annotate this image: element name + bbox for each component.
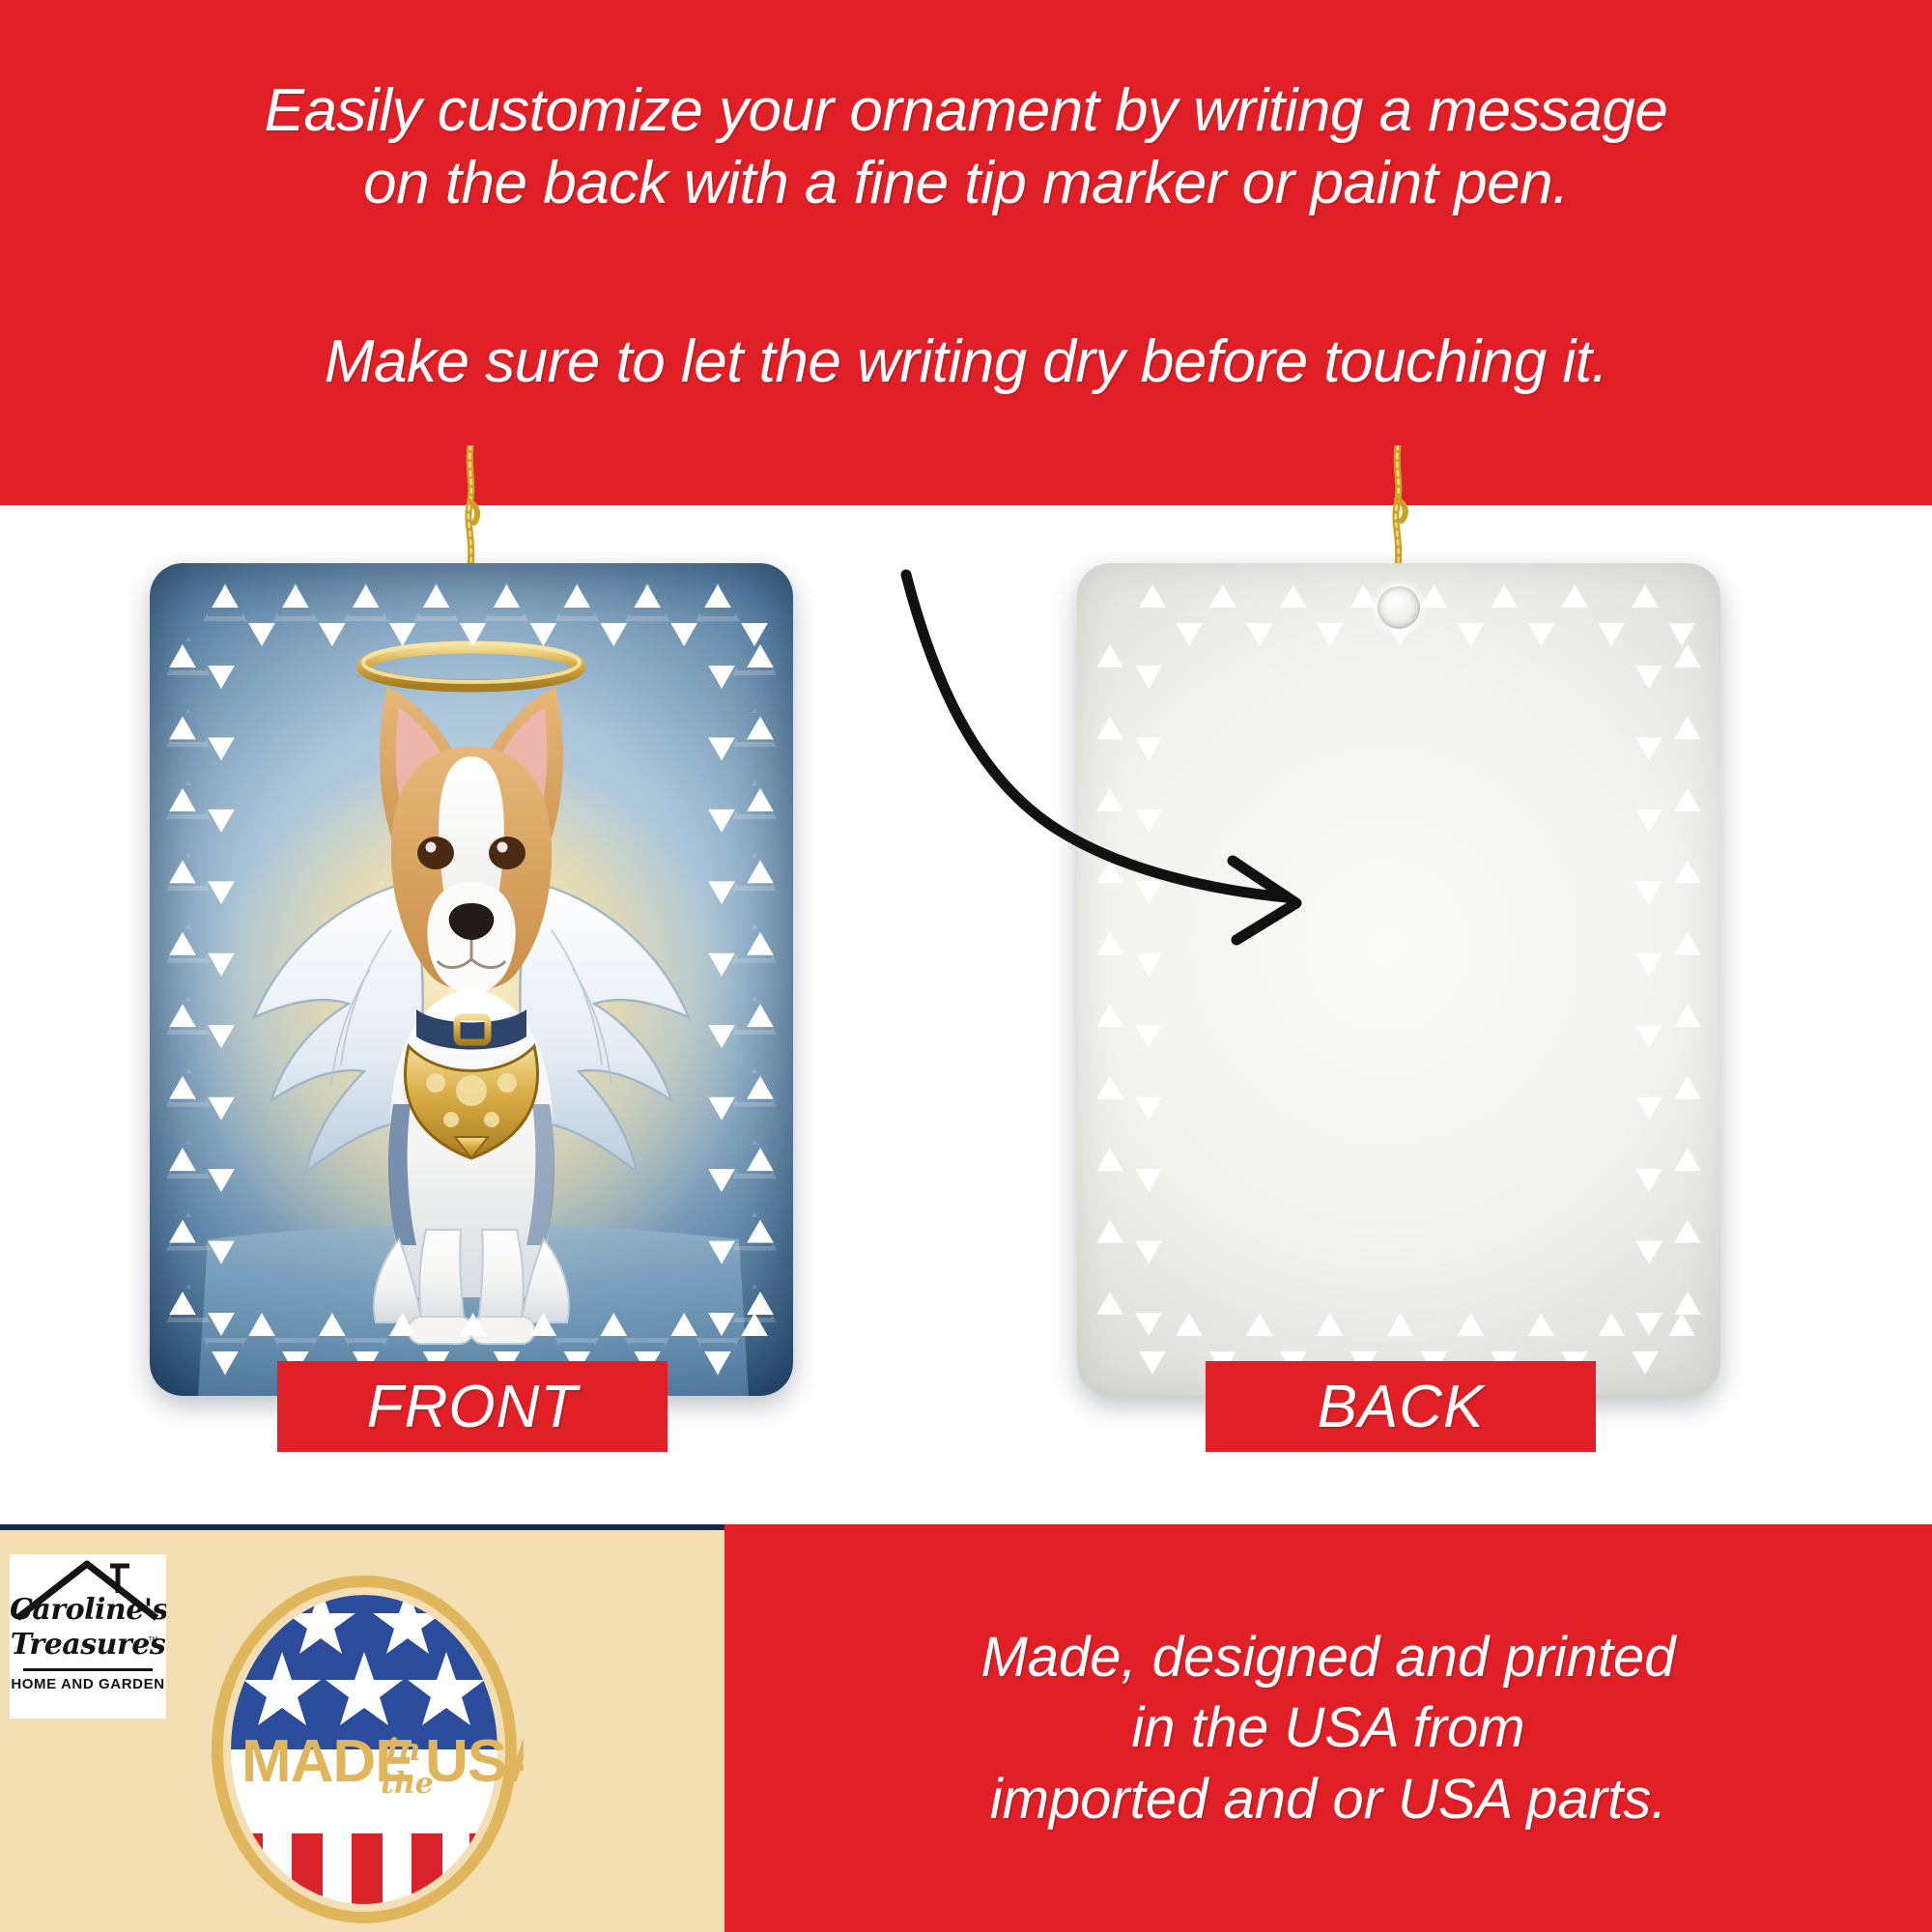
front-label-text: FRONT <box>367 1373 579 1441</box>
brand-tagline: HOME AND GARDEN <box>10 1676 166 1692</box>
product-photo-stage: FRONT BACK <box>0 505 1932 1524</box>
badge-word-usa: USA <box>425 1728 524 1795</box>
pointing-arrow-icon <box>850 534 1391 979</box>
made-in-usa-badge-icon: MADE in the USA <box>205 1571 524 1928</box>
usa-text-line-1: Made, designed and printed <box>980 1622 1675 1692</box>
angel-dog-artwork <box>150 563 793 1396</box>
usa-text-line-2: in the USA from <box>1131 1692 1524 1763</box>
footer-bar: Caroline's Treasures ™ HOME AND GARDEN <box>0 1524 1932 1932</box>
banner-line-2: on the back with a fine tip marker or pa… <box>363 148 1569 218</box>
brand-name-line2: Treasures <box>10 1628 166 1662</box>
banner-line-3: Make sure to let the writing dry before … <box>325 327 1607 397</box>
carolines-treasures-logo: Caroline's Treasures ™ HOME AND GARDEN <box>10 1554 166 1719</box>
back-label-text: BACK <box>1318 1373 1485 1441</box>
brand-name-line1: Caroline's <box>10 1593 166 1627</box>
usa-text-line-3: imported and or USA parts. <box>990 1764 1667 1834</box>
banner-line-1: Easily customize your ornament by writin… <box>265 75 1668 146</box>
badge-word-in: in <box>386 1731 420 1768</box>
back-label-badge: BACK <box>1206 1361 1596 1452</box>
trademark-symbol: ™ <box>148 1635 158 1647</box>
footer-usa-panel: Made, designed and printed in the USA fr… <box>724 1524 1932 1932</box>
footer-brand-panel: Caroline's Treasures ™ HOME AND GARDEN <box>0 1524 724 1932</box>
front-hanging-cord-icon <box>458 445 483 571</box>
instruction-banner: Easily customize your ornament by writin… <box>0 0 1932 505</box>
front-label-badge: FRONT <box>277 1361 668 1452</box>
brand-divider-rule <box>23 1668 153 1671</box>
front-ornament[interactable] <box>150 563 793 1396</box>
